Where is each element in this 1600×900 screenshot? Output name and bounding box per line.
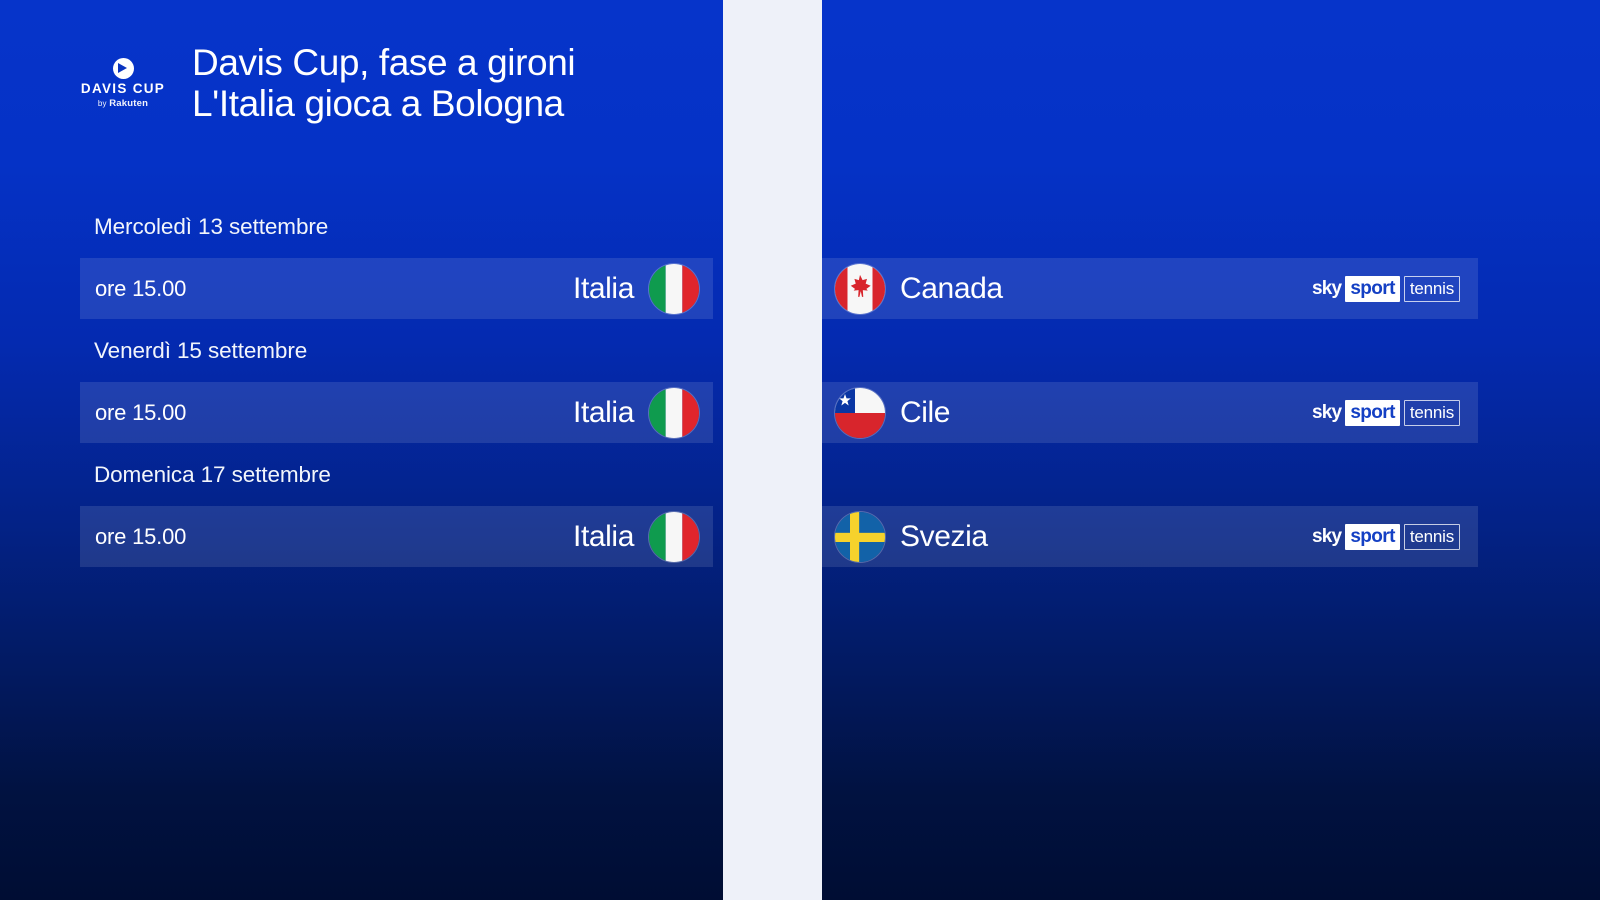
header: DAVIS CUP by Rakuten Davis Cup, fase a g… — [80, 42, 575, 125]
center-divider-strip — [723, 0, 822, 900]
match-home-card[interactable]: ore 15.00 Italia — [80, 258, 713, 319]
away-team: Cile — [835, 388, 950, 438]
flag-italy-icon — [649, 264, 699, 314]
match-home-card[interactable]: ore 15.00 Italia — [80, 506, 713, 567]
match-time: ore 15.00 — [95, 524, 186, 550]
graphic-canvas: DAVIS CUP by Rakuten Davis Cup, fase a g… — [0, 0, 1600, 900]
sky-channel-badge: tennis — [1404, 400, 1460, 426]
flag-italy-icon — [649, 512, 699, 562]
davis-cup-logo: DAVIS CUP by Rakuten — [80, 50, 166, 116]
match-away-card[interactable]: Canada sky sport tennis — [822, 258, 1478, 319]
match-time: ore 15.00 — [95, 276, 186, 302]
flag-chile-icon — [835, 388, 885, 438]
sky-sport-badge: sport — [1345, 276, 1400, 302]
away-team: Svezia — [835, 512, 988, 562]
away-team-name: Canada — [900, 272, 1003, 306]
home-team: Italia — [573, 388, 699, 438]
home-team-name: Italia — [573, 396, 634, 430]
logo-sponsor-name: Rakuten — [109, 98, 148, 109]
home-team-name: Italia — [573, 520, 634, 554]
away-team-name: Svezia — [900, 520, 988, 554]
home-team: Italia — [573, 512, 699, 562]
away-team-name: Cile — [900, 396, 950, 430]
sky-sport-tennis-logo: sky sport tennis — [1312, 524, 1460, 550]
sky-sport-tennis-logo: sky sport tennis — [1312, 400, 1460, 426]
sky-sport-badge: sport — [1345, 400, 1400, 426]
match-away-card[interactable]: Svezia sky sport tennis — [822, 506, 1478, 567]
match-home-card[interactable]: ore 15.00 Italia — [80, 382, 713, 443]
page-title: Davis Cup, fase a gironi L'Italia gioca … — [192, 42, 575, 125]
sky-channel-badge: tennis — [1404, 276, 1460, 302]
logo-sponsor: by Rakuten — [98, 99, 148, 109]
title-line-1: Davis Cup, fase a gironi — [192, 42, 575, 83]
home-team: Italia — [573, 264, 699, 314]
sky-wordmark: sky — [1312, 279, 1341, 298]
logo-sponsor-prefix: by — [98, 99, 109, 108]
sky-channel-badge: tennis — [1404, 524, 1460, 550]
home-team-name: Italia — [573, 272, 634, 306]
logo-wordmark: DAVIS CUP — [81, 82, 165, 96]
sky-wordmark: sky — [1312, 527, 1341, 546]
flag-italy-icon — [649, 388, 699, 438]
away-team: Canada — [835, 264, 1003, 314]
flag-canada-icon — [835, 264, 885, 314]
match-time: ore 15.00 — [95, 400, 186, 426]
match-away-card[interactable]: Cile sky sport tennis — [822, 382, 1478, 443]
sky-sport-badge: sport — [1345, 524, 1400, 550]
davis-cup-ball-icon — [113, 58, 134, 79]
sky-wordmark: sky — [1312, 403, 1341, 422]
title-line-2: L'Italia gioca a Bologna — [192, 83, 575, 124]
flag-sweden-icon — [835, 512, 885, 562]
sky-sport-tennis-logo: sky sport tennis — [1312, 276, 1460, 302]
